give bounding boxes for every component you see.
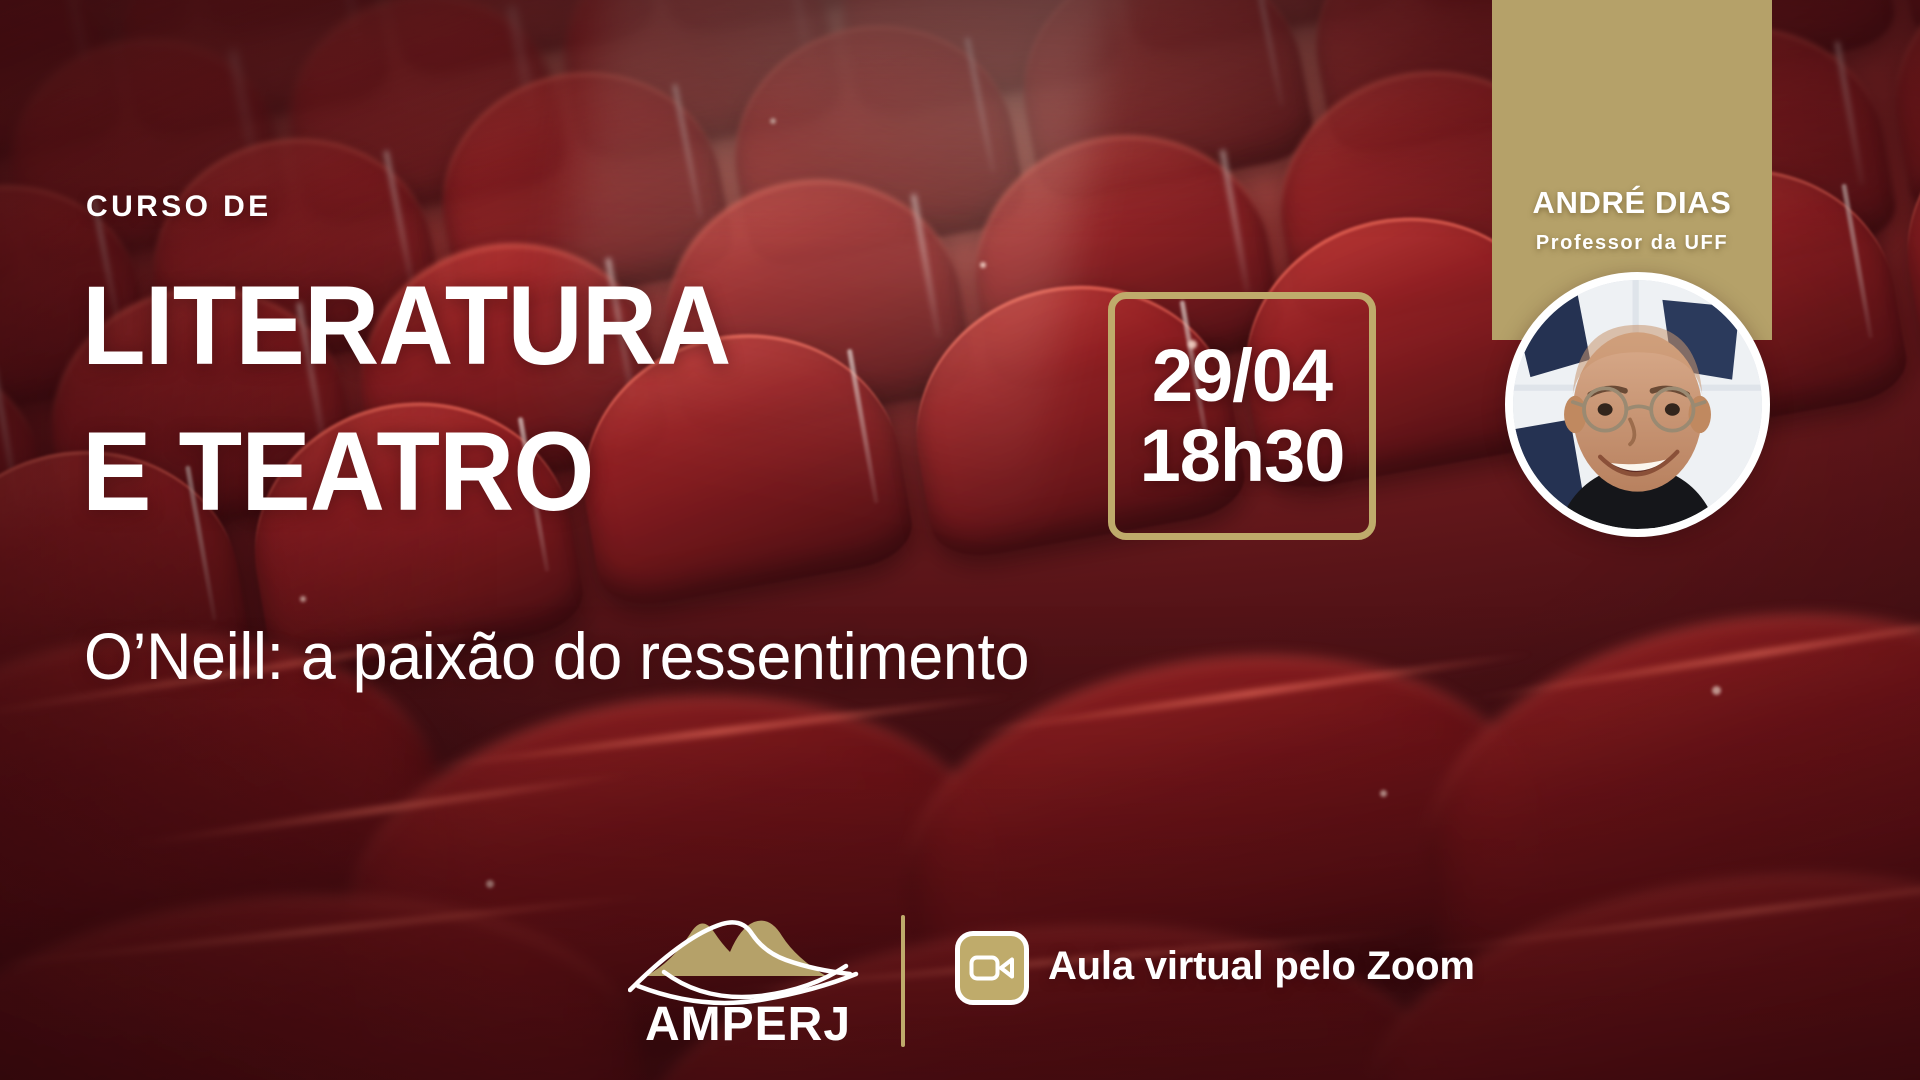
speaker-portrait-icon [1513, 280, 1762, 529]
zoom-video-badge [955, 931, 1029, 1005]
light-speck [300, 596, 306, 602]
kicker-label: CURSO DE [86, 190, 272, 224]
amperj-wordmark: AMPERJ [645, 998, 851, 1048]
event-date: 29/04 [1152, 338, 1332, 414]
amperj-logo: AMPERJ [628, 898, 868, 1048]
light-speck [770, 118, 776, 124]
event-time: 18h30 [1140, 418, 1345, 494]
speaker-portrait-avatar [1505, 272, 1770, 537]
speaker-name: ANDRÉ DIAS [1492, 185, 1772, 221]
title-line-2: E TEATRO [82, 418, 593, 526]
title-line-1: LITERATURA [82, 272, 730, 380]
light-speck [486, 880, 494, 888]
video-camera-icon [969, 953, 1015, 983]
light-speck [1380, 790, 1387, 797]
promotional-banner: CURSO DE LITERATURA E TEATRO O’Neill: a … [0, 0, 1920, 1080]
date-time-badge: 29/04 18h30 [1108, 292, 1376, 540]
zoom-label: Aula virtual pelo Zoom [1048, 944, 1475, 989]
light-speck [1712, 686, 1721, 695]
vertical-divider [901, 915, 905, 1047]
amperj-mountains-icon [630, 921, 856, 1003]
speaker-role: Professor da UFF [1492, 232, 1772, 255]
subtitle: O’Neill: a paixão do ressentimento [84, 618, 1029, 694]
light-speck [980, 262, 986, 268]
